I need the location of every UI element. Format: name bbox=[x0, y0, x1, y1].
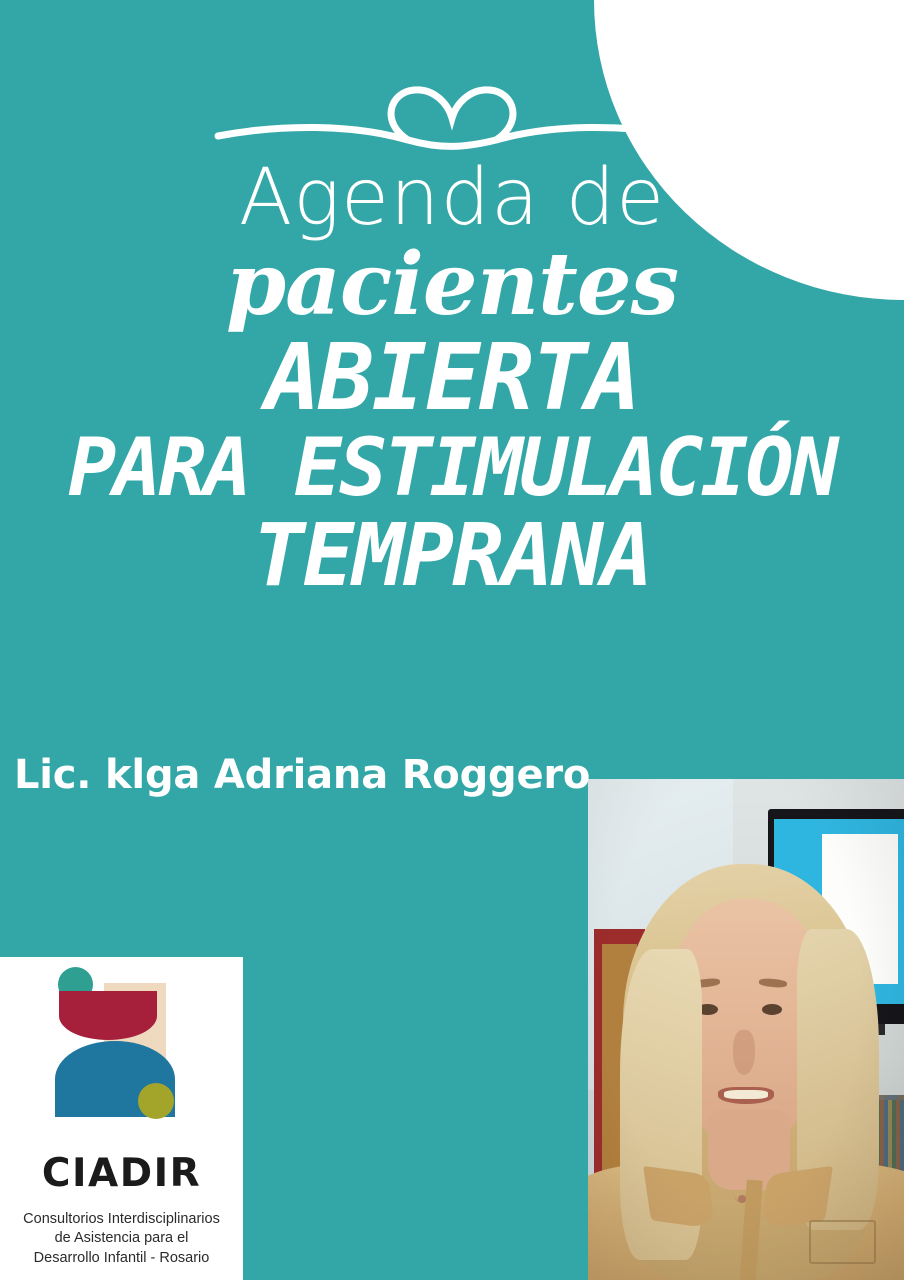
heart-ribbon-divider bbox=[0, 78, 904, 158]
photo-vignette bbox=[588, 779, 904, 1280]
heart-ribbon-divider-icon bbox=[212, 78, 692, 156]
ciadir-wordmark: CIADIR bbox=[0, 1151, 243, 1196]
ciadir-logo-mark bbox=[42, 965, 202, 1131]
portrait-photo bbox=[588, 779, 904, 1280]
ciadir-tagline-line-2: de Asistencia para el bbox=[8, 1229, 235, 1248]
ciadir-tagline-line-1: Consultorios Interdisciplinarios bbox=[8, 1210, 235, 1229]
headline-line-temprana: TEMPRANA bbox=[0, 511, 904, 601]
poster-canvas: Agenda de pacientes ABIERTA PARA ESTIMUL… bbox=[0, 0, 904, 1280]
professional-name: Lic. klga Adriana Roggero bbox=[14, 752, 590, 798]
headline-block: Agenda de pacientes ABIERTA PARA ESTIMUL… bbox=[0, 160, 904, 601]
portrait-photo-scene bbox=[588, 779, 904, 1280]
headline-line-agenda: Agenda de bbox=[0, 160, 904, 242]
headline-line-abierta: ABIERTA bbox=[0, 330, 904, 426]
headline-line-para-estimulacion: PARA ESTIMULACIÓN bbox=[0, 426, 904, 511]
ciadir-tagline-line-3: Desarrollo Infantil - Rosario bbox=[8, 1249, 235, 1268]
headline-line-pacientes: pacientes bbox=[0, 242, 904, 330]
logo-red-dome bbox=[59, 991, 157, 1040]
logo-olive-circle bbox=[138, 1083, 174, 1119]
ciadir-logo-card: CIADIR Consultorios Interdisciplinarios … bbox=[0, 957, 243, 1280]
ciadir-tagline: Consultorios Interdisciplinarios de Asis… bbox=[0, 1210, 243, 1268]
